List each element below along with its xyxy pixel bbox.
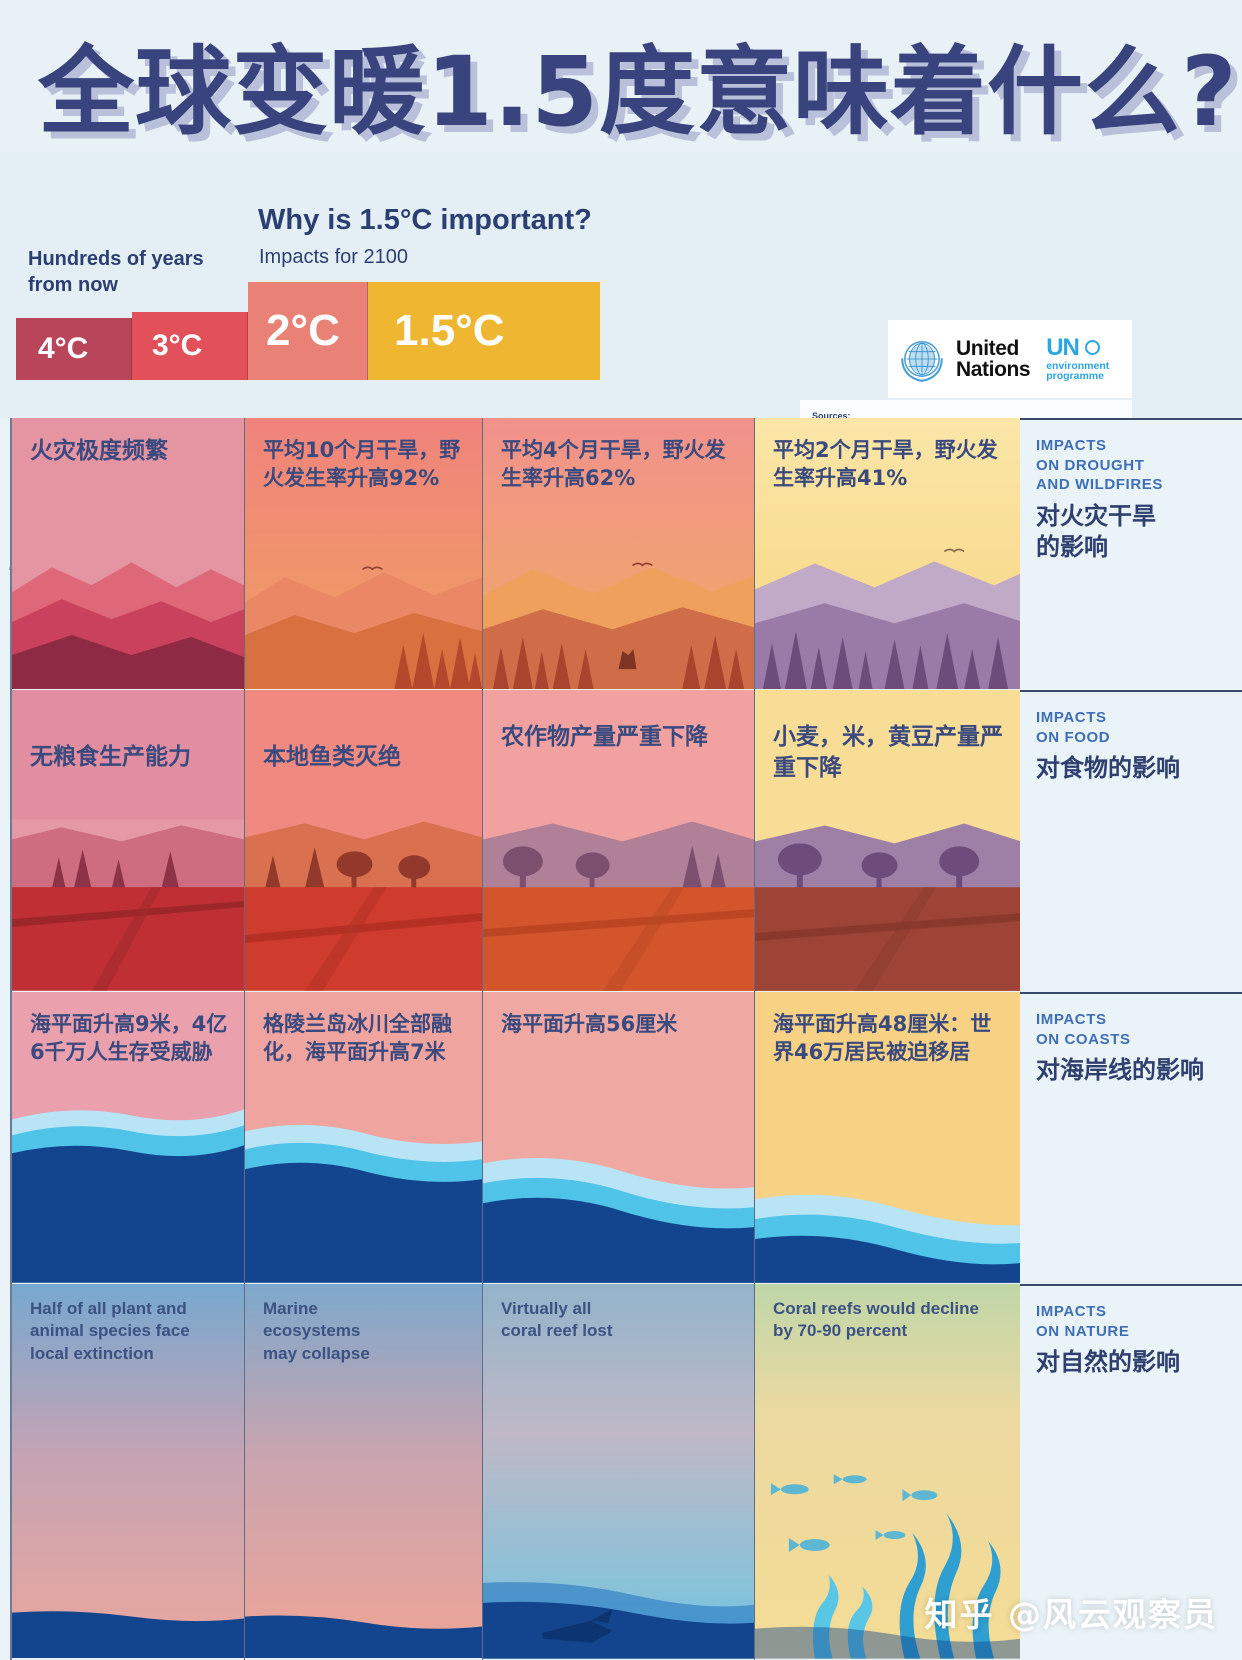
impact-cell-text: 格陵兰岛冰川全部融化，海平面升高7米 — [263, 1010, 468, 1067]
un-wordmark-line2: Nations — [956, 359, 1030, 380]
impact-cell: 平均4个月干旱，野火发生率升高62% — [483, 418, 755, 690]
watermark: 知乎 @风云观察员 — [925, 1588, 1219, 1636]
title-bar: 全球变暖1.5度意味着什么? — [0, 0, 1242, 152]
impact-row-drought: 火灾极度频繁 平均10个月干旱，野火发 — [10, 418, 1242, 690]
impact-cell-text: 平均4个月干旱，野火发生率升高62% — [501, 436, 740, 493]
impact-row-coasts-cells: 海平面升高9米，4亿6千万人生存受威胁 格陵兰岛冰川全部融化，海平面升高7米 — [10, 992, 1020, 1284]
temperature-step-4c: 4°C — [16, 318, 132, 380]
un-logo-box: United Nations UN environment programme — [888, 320, 1132, 398]
impact-row-label-en: IMPACTSON COASTS — [1036, 1010, 1232, 1049]
impact-cell: 平均10个月干旱，野火发生率升高92% — [245, 418, 483, 690]
impact-row-label-cn: 对火灾干旱的影响 — [1036, 501, 1232, 563]
unep-mark: UN — [1046, 336, 1109, 360]
drought-scene-3c — [245, 690, 482, 991]
impact-cell: 海平面升高9米，4亿6千万人生存受威胁 — [12, 992, 245, 1284]
impact-cell: Half of all plant andanimal species face… — [12, 1284, 245, 1660]
impacts-grid: 火灾极度频繁 平均10个月干旱，野火发 — [10, 418, 1242, 1660]
impact-cell: 海平面升高56厘米 — [483, 992, 755, 1284]
impact-cell: 农作物产量严重下降 — [483, 690, 755, 992]
un-wordmark-line1: United — [956, 338, 1030, 359]
impact-cell-text: 平均10个月干旱，野火发生率升高92% — [263, 436, 468, 493]
impact-cell-text: 海平面升高9米，4亿6千万人生存受威胁 — [30, 1010, 230, 1067]
unep-logo: UN environment programme — [1046, 336, 1109, 382]
impact-cell-text: 海平面升高48厘米：世界46万居民被迫移居 — [773, 1010, 1007, 1067]
impact-cell: Marineecosystemsmay collapse — [245, 1284, 483, 1660]
hundreds-of-years-label: Hundreds of yearsfrom now — [28, 247, 238, 298]
unep-globe-icon — [1085, 340, 1100, 355]
unep-sub-line2: programme — [1046, 371, 1109, 382]
impact-cell: Virtually allcoral reef lost — [483, 1284, 755, 1660]
impact-row-nature-cells: Half of all plant andanimal species face… — [10, 1284, 1020, 1660]
impact-cell: 本地鱼类灭绝 — [245, 690, 483, 992]
impact-row-food-cells: 无粮食生产能力 本地鱼类灭绝 — [10, 690, 1020, 992]
impact-cell-text-en: Half of all plant andanimal species face… — [30, 1298, 232, 1365]
impact-cell: 平均2个月干旱，野火发生率升高41% — [755, 418, 1022, 690]
impact-cell-text: 无粮食生产能力 — [30, 742, 230, 773]
impact-cell-text-en: Coral reefs would declineby 70-90 percen… — [773, 1298, 1009, 1343]
impact-row-label-en: IMPACTSON DROUGHTAND WILDFIRES — [1036, 436, 1232, 495]
temperature-step-1-5c: 1.5°C — [368, 282, 600, 380]
impact-row-food: 无粮食生产能力 本地鱼类灭绝 — [10, 690, 1242, 992]
header-section: Hundreds of yearsfrom now Why is 1.5°C i… — [0, 152, 1242, 418]
unep-sub: environment programme — [1046, 361, 1109, 382]
impact-row-label-coasts: IMPACTSON COASTS 对海岸线的影响 — [1020, 992, 1242, 1284]
un-wordmark: United Nations — [956, 338, 1030, 381]
impact-row-label-cn: 对海岸线的影响 — [1036, 1055, 1232, 1086]
impact-cell-text: 平均2个月干旱，野火发生率升高41% — [773, 436, 1007, 493]
impact-row-label-en: IMPACTSON NATURE — [1036, 1302, 1232, 1341]
impact-cell: 无粮食生产能力 — [12, 690, 245, 992]
impact-row-label-cn: 对自然的影响 — [1036, 1347, 1232, 1378]
impact-cell-text: 本地鱼类灭绝 — [263, 742, 468, 773]
impact-row-label-food: IMPACTSON FOOD 对食物的影响 — [1020, 690, 1242, 992]
impact-row-label-en: IMPACTSON FOOD — [1036, 708, 1232, 747]
impact-cell-text: 火灾极度频繁 — [30, 436, 230, 467]
temperature-step-2c: 2°C — [248, 282, 368, 380]
impact-cell-text-en: Marineecosystemsmay collapse — [263, 1298, 470, 1365]
why-subtitle: Impacts for 2100 — [259, 246, 408, 269]
impact-cell-text: 小麦，米，黄豆产量严重下降 — [773, 722, 1007, 784]
impact-cell: 火灾极度频繁 — [12, 418, 245, 690]
impact-row-label-drought: IMPACTSON DROUGHTAND WILDFIRES 对火灾干旱的影响 — [1020, 418, 1242, 690]
page-title: 全球变暖1.5度意味着什么? — [38, 14, 1238, 153]
impact-cell: 小麦，米，黄豆产量严重下降 — [755, 690, 1022, 992]
united-nations-emblem-icon — [896, 333, 948, 385]
impact-cell-text: 海平面升高56厘米 — [501, 1010, 740, 1038]
temperature-step-3c: 3°C — [132, 312, 248, 380]
impact-row-drought-cells: 火灾极度频繁 平均10个月干旱，野火发 — [10, 418, 1020, 690]
impact-cell: 格陵兰岛冰川全部融化，海平面升高7米 — [245, 992, 483, 1284]
impact-cell-text-en: Virtually allcoral reef lost — [501, 1298, 742, 1343]
impact-cell-text: 农作物产量严重下降 — [501, 722, 740, 753]
why-title: Why is 1.5°C important? — [258, 204, 592, 237]
impact-row-coasts: 海平面升高9米，4亿6千万人生存受威胁 格陵兰岛冰川全部融化，海平面升高7米 — [10, 992, 1242, 1284]
impact-row-label-cn: 对食物的影响 — [1036, 753, 1232, 784]
impact-cell: 海平面升高48厘米：世界46万居民被迫移居 — [755, 992, 1022, 1284]
drought-scene-4c — [12, 690, 244, 991]
